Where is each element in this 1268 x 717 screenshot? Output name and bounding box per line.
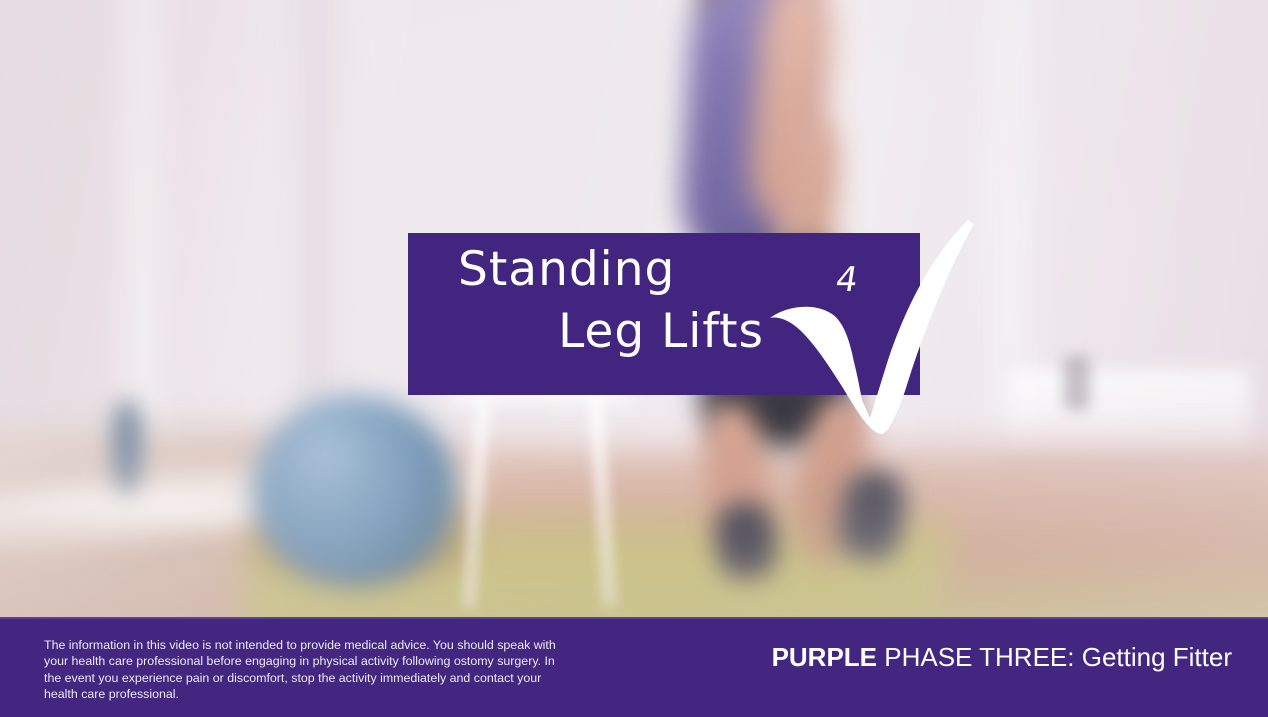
footer-bar: The information in this video is not int…	[0, 617, 1268, 717]
medical-disclaimer: The information in this video is not int…	[44, 637, 574, 703]
exercise-title: Standing Leg Lifts	[434, 239, 764, 363]
video-frame: Standing Leg Lifts 4 The information in …	[0, 0, 1268, 717]
exercise-title-line-1: Standing	[434, 239, 764, 301]
title-card: Standing Leg Lifts	[408, 233, 920, 395]
footer-divider	[0, 617, 1268, 619]
exercise-title-line-2: Leg Lifts	[434, 301, 764, 363]
brand-name: PURPLE	[772, 642, 877, 672]
phase-title: PURPLE PHASE THREE: Getting Fitter	[772, 641, 1232, 673]
phase-name: PHASE THREE: Getting Fitter	[877, 642, 1232, 672]
